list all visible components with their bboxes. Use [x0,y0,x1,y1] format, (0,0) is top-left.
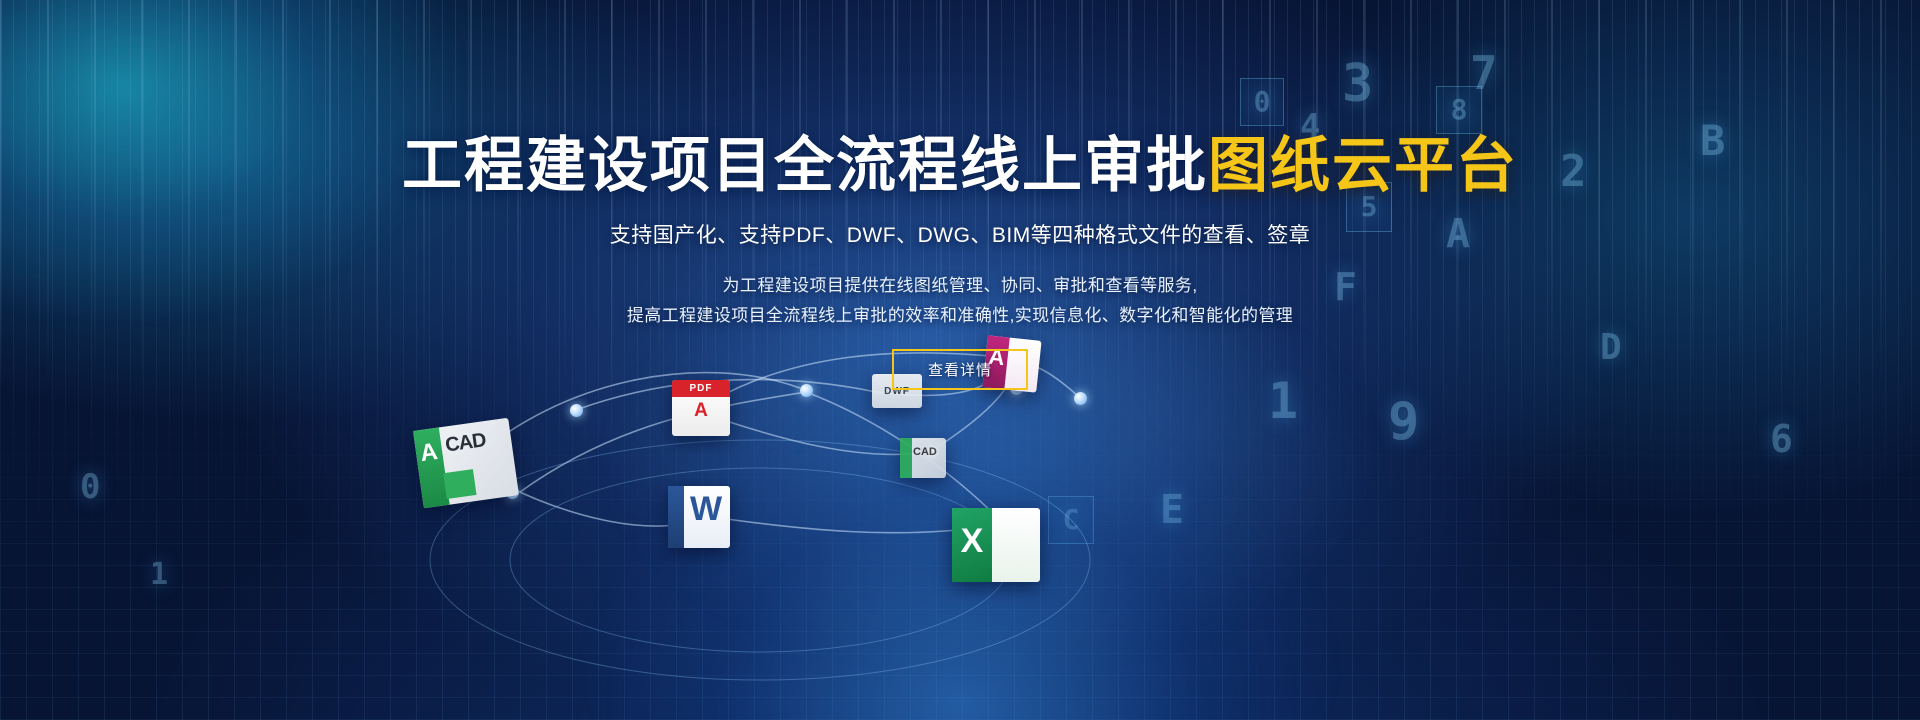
cta-wrapper: 查看详情 [0,331,1920,390]
word-file-icon: W [668,486,730,548]
banner-subtitle: 支持国产化、支持PDF、DWF、DWG、BIM等四种格式文件的查看、签章 [0,197,1920,249]
banner-description-line1: 为工程建设项目提供在线图纸管理、协同、审批和查看等服务, [723,276,1198,295]
network-node [570,404,583,417]
page-title-accent: 图纸云平台 [1208,132,1518,199]
digit-glyph: 0 [80,470,100,504]
banner-content: 工程建设项目全流程线上审批图纸云平台 支持国产化、支持PDF、DWF、DWG、B… [0,0,1920,390]
word-label: W [682,492,730,526]
banner-description-line2: 提高工程建设项目全流程线上审批的效率和准确性,实现信息化、数字化和智能化的管理 [627,306,1293,325]
excel-file-icon: X [952,508,1040,582]
page-title: 工程建设项目全流程线上审批图纸云平台 [0,0,1920,197]
autocad-label: CAD [444,429,487,457]
autocad-badge-letter: A [418,438,439,468]
digit-glyph: 6 [1770,420,1793,458]
autocad-file-icon: A CAD [413,418,519,509]
page-title-main: 工程建设项目全流程线上审批 [402,132,1208,199]
autocad-small-file-icon: CAD [900,438,946,478]
network-node [1074,392,1087,405]
excel-label: X [952,524,992,558]
pdf-badge-letter: A [672,400,730,422]
digit-glyph: 9 [1388,396,1419,448]
banner-description: 为工程建设项目提供在线图纸管理、协同、审批和查看等服务, 提高工程建设项目全流程… [0,249,1920,331]
autocad-small-label: CAD [913,446,937,458]
view-details-button[interactable]: 查看详情 [892,349,1028,390]
hero-banner: 7 3 0 8 4 2 5 A F 1 9 C E D B 0 1 6 [0,0,1920,720]
digit-glyph: 1 [150,560,168,590]
